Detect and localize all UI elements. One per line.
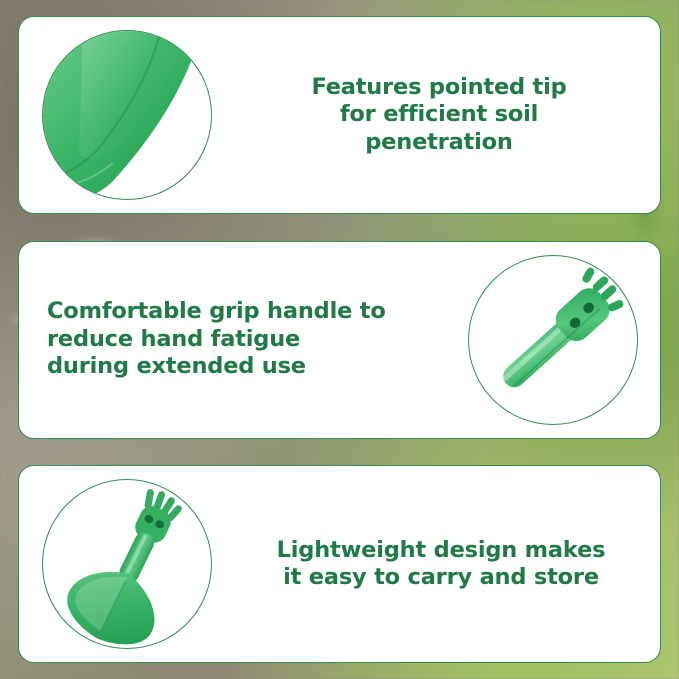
feature-card-text: Features pointed tip for efficient soil …	[234, 74, 660, 156]
feature-card-caption: Comfortable grip handle to reduce hand f…	[47, 298, 386, 380]
caption-line: Comfortable grip handle to	[47, 298, 386, 325]
caption-line: Features pointed tip	[311, 74, 566, 101]
trowel-blade-tip-closeup-image	[42, 30, 212, 200]
feature-card-text: Comfortable grip handle to reduce hand f…	[19, 298, 445, 380]
feature-card-media	[19, 17, 234, 213]
feature-card-list: Features pointed tip for efficient soil …	[0, 0, 679, 679]
caption-line: reduce hand fatigue	[47, 326, 386, 353]
feature-card-media	[445, 242, 660, 438]
trowel-handle-graphic	[469, 256, 637, 424]
trowel-handle-closeup-image	[468, 255, 638, 425]
product-feature-infographic: Features pointed tip for efficient soil …	[0, 0, 679, 679]
feature-card: Features pointed tip for efficient soil …	[18, 16, 661, 214]
caption-line: Lightweight design makes	[277, 537, 606, 564]
feature-card-text: Lightweight design makes it easy to carr…	[234, 537, 660, 592]
caption-line: for efficient soil	[311, 101, 566, 128]
caption-line: it easy to carry and store	[277, 564, 606, 591]
feature-card: Comfortable grip handle to reduce hand f…	[18, 241, 661, 439]
caption-line: penetration	[311, 129, 566, 156]
trowel-full-view-image	[42, 479, 212, 649]
feature-card-caption: Lightweight design makes it easy to carr…	[277, 537, 606, 592]
feature-card-caption: Features pointed tip for efficient soil …	[311, 74, 566, 156]
caption-line: during extended use	[47, 353, 386, 380]
feature-card-media	[19, 466, 234, 662]
trowel-full-graphic	[43, 480, 211, 648]
trowel-blade-tip-graphic	[43, 31, 211, 199]
feature-card: Lightweight design makes it easy to carr…	[18, 465, 661, 663]
